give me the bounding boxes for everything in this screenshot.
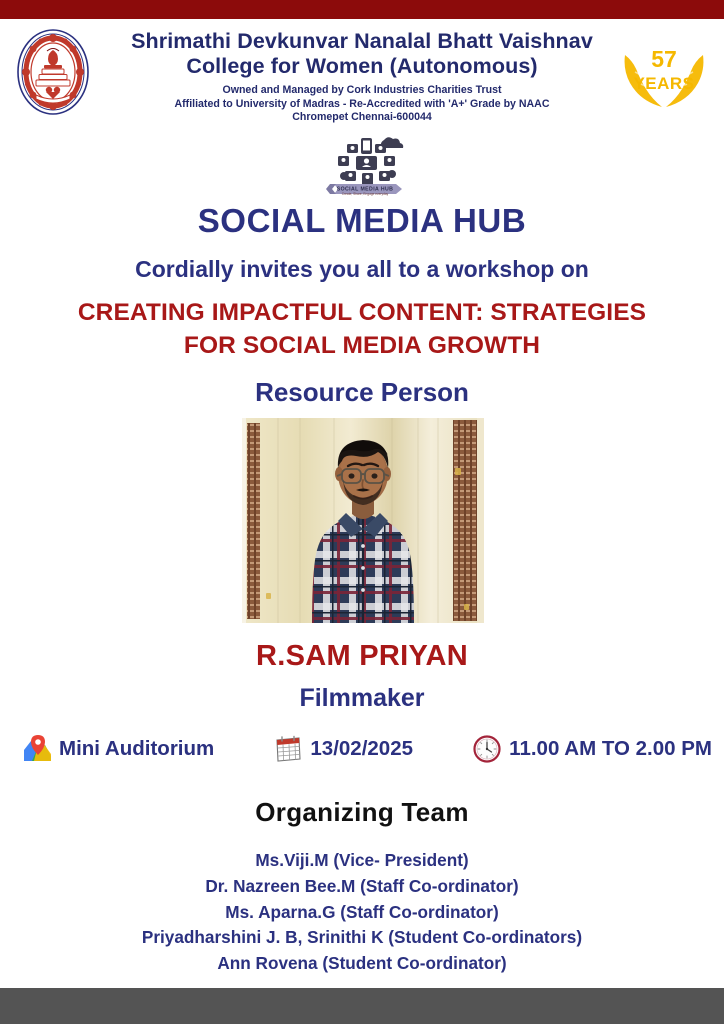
- speaker-name: R.SAM PRIYAN: [0, 640, 724, 673]
- clock-icon: [472, 734, 502, 764]
- organizing-team-heading: Organizing Team: [0, 797, 724, 828]
- page-title: SOCIAL MEDIA HUB: [0, 202, 724, 240]
- top-accent-bar: [0, 0, 724, 19]
- invitation-line: Cordially invites you all to a workshop …: [0, 256, 724, 283]
- college-subline-1: Owned and Managed by Cork Industries Cha…: [100, 84, 624, 98]
- team-member: Dr. Nazreen Bee.M (Staff Co-ordinator): [0, 874, 724, 900]
- event-poster: Shrimathi Devkunvar Nanalal Bhatt Vaishn…: [0, 0, 724, 1024]
- time-text: 11.00 AM TO 2.00 PM: [509, 737, 712, 761]
- date-item: 13/02/2025: [273, 734, 413, 764]
- college-seal-icon: [14, 27, 92, 117]
- college-subline-3: Chromepet Chennai-600044: [100, 111, 624, 125]
- team-member: Ms.Viji.M (Vice- President): [0, 848, 724, 874]
- college-subline-2: Affiliated to University of Madras - Re-…: [100, 98, 624, 112]
- organizing-team-list: Ms.Viji.M (Vice- President) Dr. Nazreen …: [0, 848, 724, 977]
- date-text: 13/02/2025: [310, 737, 413, 761]
- speaker-role: Filmmaker: [0, 684, 724, 713]
- team-member: Ann Rovena (Student Co-ordinator): [0, 951, 724, 977]
- badge-label: YEARS: [633, 74, 694, 93]
- speaker-photo: [242, 418, 484, 623]
- workshop-title-line2: FOR SOCIAL MEDIA GROWTH: [0, 329, 724, 362]
- team-member: Ms. Aparna.G (Staff Co-ordinator): [0, 900, 724, 926]
- college-name-block: Shrimathi Devkunvar Nanalal Bhatt Vaishn…: [100, 29, 624, 125]
- college-name-line1: Shrimathi Devkunvar Nanalal Bhatt Vaishn…: [100, 29, 624, 54]
- time-item: 11.00 AM TO 2.00 PM: [472, 734, 712, 764]
- workshop-title: CREATING IMPACTFUL CONTENT: STRATEGIES F…: [0, 296, 724, 362]
- badge-number: 57: [651, 46, 677, 72]
- location-pin-icon: [22, 734, 52, 764]
- calendar-icon: [273, 734, 303, 764]
- bottom-accent-bar: [0, 988, 724, 1024]
- event-details-row: Mini Auditorium: [22, 732, 712, 766]
- venue-item: Mini Auditorium: [22, 734, 214, 764]
- college-header: Shrimathi Devkunvar Nanalal Bhatt Vaishn…: [0, 19, 724, 127]
- team-member: Priyadharshini J. B, Srinithi K (Student…: [0, 925, 724, 951]
- workshop-title-line1: CREATING IMPACTFUL CONTENT: STRATEGIES: [78, 299, 646, 326]
- resource-person-label: Resource Person: [0, 377, 724, 408]
- college-name-line2: College for Women (Autonomous): [100, 54, 624, 79]
- social-media-hub-logo-icon: SOCIAL MEDIA HUB Create, Share, Engage e…: [322, 134, 414, 196]
- venue-text: Mini Auditorium: [59, 737, 214, 761]
- svg-text:Create, Share, Engage everyday: Create, Share, Engage everyday: [342, 192, 389, 196]
- laurel-wreath-icon: 57 YEARS: [618, 27, 710, 115]
